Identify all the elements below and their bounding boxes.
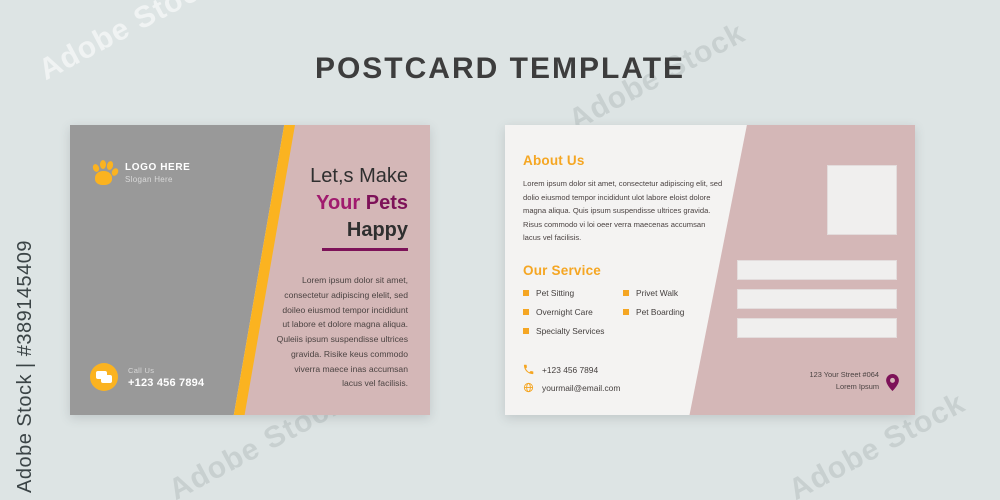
service-item-label: Pet Sitting [536, 288, 574, 298]
service-item[interactable]: Specialty Services [523, 326, 623, 336]
service-item[interactable]: Pet Sitting [523, 288, 623, 298]
address-line-field[interactable] [737, 318, 897, 338]
map-pin-icon [886, 374, 899, 391]
postcard-front: LOGO HERE Slogan Here Let,s Make Your Pe… [70, 125, 430, 415]
contact-phone-row[interactable]: +123 456 7894 [523, 364, 620, 375]
service-item[interactable]: Privet Walk [623, 288, 733, 298]
logo-slogan: Slogan Here [125, 175, 190, 184]
chat-bubble-icon [90, 363, 118, 391]
about-title: About Us [523, 153, 723, 168]
bullet-square-icon [523, 290, 529, 296]
service-title: Our Service [523, 263, 733, 278]
address-line-field[interactable] [737, 289, 897, 309]
headline-block: Let,s Make Your Pets Happy [268, 163, 408, 251]
postcard-back: About Us Lorem ipsum dolor sit amet, con… [505, 125, 915, 415]
service-item-label: Overnight Care [536, 307, 593, 317]
call-us-block[interactable]: Call Us +123 456 7894 [90, 363, 204, 391]
front-body-text: Lorem ipsum dolor sit amet, consectetur … [276, 273, 408, 391]
headline-happy: Happy [268, 217, 408, 244]
service-list: Pet Sitting Privet Walk Overnight Care P… [523, 288, 733, 336]
address-lines [737, 260, 897, 338]
contact-email-row[interactable]: yourmail@email.com [523, 382, 620, 393]
globe-icon [523, 382, 534, 393]
service-item[interactable]: Pet Boarding [623, 307, 733, 317]
address-line-2: Lorem Ipsum [810, 381, 879, 393]
logo-name: LOGO HERE [125, 162, 190, 173]
call-us-phone: +123 456 7894 [128, 377, 204, 389]
service-item-label: Pet Boarding [636, 307, 684, 317]
headline-line-1: Let,s Make [268, 163, 408, 190]
screenshot-root: Adobe Stock Adobe Stock Adobe Stock Adob… [0, 0, 1000, 500]
headline-pets: Pets [366, 192, 408, 214]
service-section: Our Service Pet Sitting Privet Walk Over… [523, 263, 733, 336]
bullet-square-icon [523, 328, 529, 334]
logo-block: LOGO HERE Slogan Here [92, 160, 190, 186]
service-item-label: Privet Walk [636, 288, 678, 298]
contact-block: +123 456 7894 yourmail@email.com [523, 364, 620, 393]
address-line-field[interactable] [737, 260, 897, 280]
address-note: 123 Your Street #064 Lorem Ipsum [810, 369, 879, 393]
bullet-square-icon [623, 290, 629, 296]
stock-id-label: Adobe Stock | #389145409 [14, 240, 37, 493]
bullet-square-icon [523, 309, 529, 315]
service-item[interactable]: Overnight Care [523, 307, 623, 317]
page-title: POSTCARD TEMPLATE [0, 52, 1000, 86]
headline-underline [322, 248, 408, 251]
call-us-label: Call Us [128, 366, 204, 375]
phone-icon [523, 364, 534, 375]
contact-phone-value: +123 456 7894 [542, 365, 598, 375]
stamp-box [827, 165, 897, 235]
bullet-square-icon [623, 309, 629, 315]
contact-email-value: yourmail@email.com [542, 383, 620, 393]
service-item-label: Specialty Services [536, 326, 604, 336]
about-section: About Us Lorem ipsum dolor sit amet, con… [523, 153, 723, 245]
headline-your: Your [316, 192, 360, 214]
about-body: Lorem ipsum dolor sit amet, consectetur … [523, 177, 723, 245]
address-line-1: 123 Your Street #064 [810, 369, 879, 381]
paw-icon [92, 160, 116, 186]
